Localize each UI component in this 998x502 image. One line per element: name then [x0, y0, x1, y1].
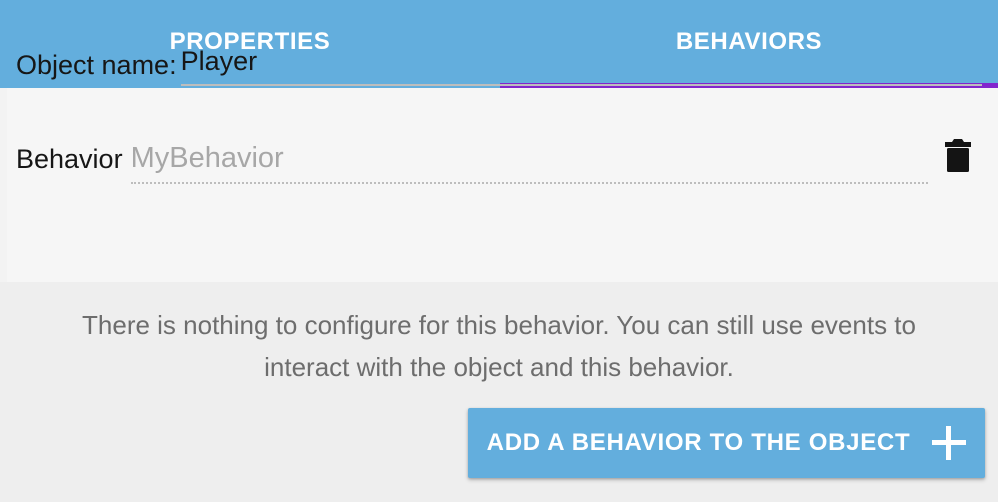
- no-configuration-message: There is nothing to configure for this b…: [40, 304, 958, 388]
- behavior-label: Behavior: [16, 142, 123, 184]
- behavior-configuration-area: There is nothing to configure for this b…: [0, 282, 998, 502]
- plus-icon: [932, 426, 966, 460]
- behavior-name-input[interactable]: [131, 140, 928, 182]
- add-behavior-to-object-button[interactable]: ADD A BEHAVIOR TO THE OBJECT: [468, 408, 985, 478]
- object-name-label: Object name:: [16, 48, 177, 86]
- object-name-row: Object name:: [16, 30, 982, 86]
- behavior-input-wrap[interactable]: [131, 132, 928, 184]
- behavior-row: Behavior: [16, 122, 982, 184]
- trash-icon: [942, 138, 974, 174]
- object-editor-panel: PROPERTIES BEHAVIORS Object name: Behavi…: [0, 0, 998, 502]
- object-name-input-wrap[interactable]: [181, 40, 982, 86]
- fields-section: [0, 88, 998, 282]
- object-name-input[interactable]: [181, 44, 982, 84]
- add-behavior-button-label: ADD A BEHAVIOR TO THE OBJECT: [487, 431, 911, 455]
- delete-behavior-button[interactable]: [934, 130, 982, 182]
- left-edge-strip: [0, 88, 7, 282]
